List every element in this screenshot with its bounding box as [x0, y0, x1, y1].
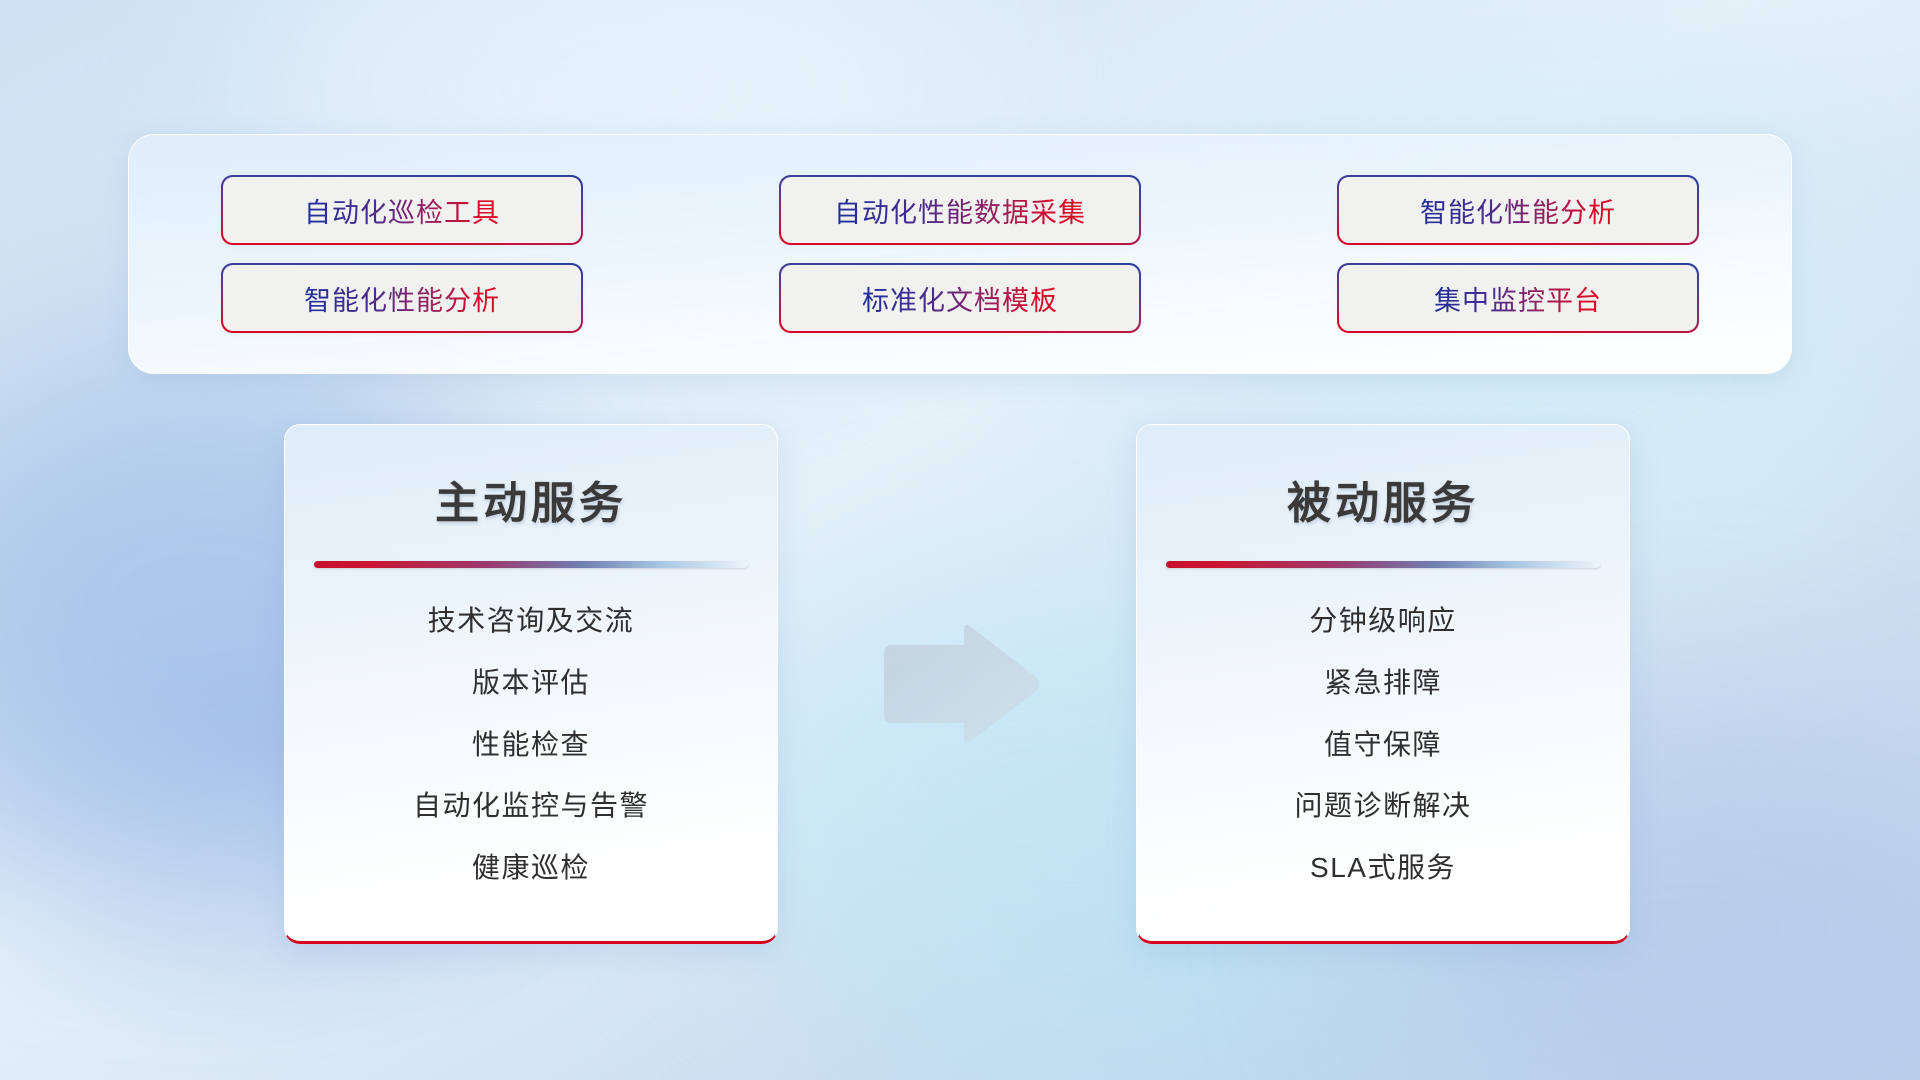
card-item-list: 技术咨询及交流 版本评估 性能检查 自动化监控与告警 健康巡检: [315, 602, 747, 887]
list-item: 紧急排障: [1324, 664, 1442, 702]
capability-pill[interactable]: 标准化文档模板: [781, 265, 1139, 331]
capability-column-2: 自动化性能数据采集 标准化文档模板: [781, 177, 1139, 331]
list-item: 自动化监控与告警: [413, 787, 649, 825]
capability-column-3: 智能化性能分析 集中监控平台: [1339, 177, 1697, 331]
service-card-active[interactable]: 主动服务 技术咨询及交流 版本评估 性能检查 自动化监控与告警 健康巡检: [284, 424, 778, 944]
capability-pill[interactable]: 自动化性能数据采集: [781, 177, 1139, 243]
capability-panel: 自动化巡检工具 智能化性能分析 自动化性能数据采集 标准化文档模板 智能化性能分…: [128, 134, 1792, 374]
capability-pill-label: 集中监控平台: [1434, 279, 1602, 318]
card-divider: [314, 561, 748, 568]
list-item: 分钟级响应: [1309, 602, 1457, 640]
list-item: 性能检查: [472, 726, 590, 764]
list-item: 技术咨询及交流: [428, 602, 635, 640]
list-item: 值守保障: [1324, 726, 1442, 764]
capability-pill-label: 智能化性能分析: [1420, 191, 1616, 230]
capability-pill[interactable]: 集中监控平台: [1339, 265, 1697, 331]
list-item: SLA式服务: [1310, 849, 1456, 887]
list-item: 版本评估: [472, 664, 590, 702]
slide-canvas: 自动化巡检工具 智能化性能分析 自动化性能数据采集 标准化文档模板 智能化性能分…: [0, 0, 1920, 1080]
list-item: 健康巡检: [472, 849, 590, 887]
capability-pill-label: 智能化性能分析: [304, 279, 500, 318]
card-title: 被动服务: [1287, 467, 1479, 531]
card-title: 主动服务: [435, 467, 627, 531]
capability-pill[interactable]: 智能化性能分析: [223, 265, 581, 331]
capability-pill[interactable]: 自动化巡检工具: [223, 177, 581, 243]
capability-pill-label: 自动化巡检工具: [304, 191, 500, 230]
service-card-passive[interactable]: 被动服务 分钟级响应 紧急排障 值守保障 问题诊断解决 SLA式服务: [1136, 424, 1630, 944]
list-item: 问题诊断解决: [1294, 787, 1471, 825]
card-divider: [1166, 561, 1600, 568]
capability-pill-label: 标准化文档模板: [862, 279, 1058, 318]
capability-pill-label: 自动化性能数据采集: [834, 191, 1086, 230]
right-arrow-icon: [876, 620, 1044, 748]
capability-pill[interactable]: 智能化性能分析: [1339, 177, 1697, 243]
card-item-list: 分钟级响应 紧急排障 值守保障 问题诊断解决 SLA式服务: [1167, 602, 1599, 887]
capability-column-1: 自动化巡检工具 智能化性能分析: [223, 177, 581, 331]
